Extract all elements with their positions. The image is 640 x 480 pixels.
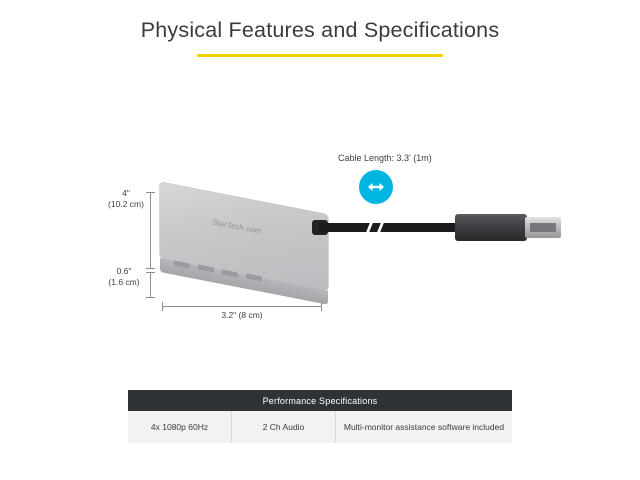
dimension-thickness-primary: 0.6" <box>94 266 154 277</box>
usb-a-connector-tongue <box>530 223 556 232</box>
double-arrow-horizontal-icon <box>359 170 393 204</box>
product-illustration: StarTech.com Cable Length: 3.3' (1m) 4" … <box>0 120 640 350</box>
product-spec-page: Physical Features and Specifications Sta… <box>0 0 640 480</box>
dimension-height-primary: 4" <box>96 188 156 199</box>
dimension-thickness-label: 0.6" (1.6 cm) <box>94 266 154 288</box>
dimension-height-secondary: (10.2 cm) <box>96 199 156 210</box>
specs-cell-software: Multi-monitor assistance software includ… <box>336 411 512 443</box>
specs-cell-video: 4x 1080p 60Hz <box>128 411 232 443</box>
cable <box>318 223 460 232</box>
device-body: StarTech.com <box>160 182 328 282</box>
dimension-width-label: 3.2" (8 cm) <box>212 310 272 321</box>
dimension-width-tick-right <box>321 302 322 311</box>
usb-a-connector-shell <box>455 214 527 241</box>
title-underline <box>197 54 443 57</box>
dimension-height-tick-top <box>146 192 155 193</box>
dimension-height-line <box>150 192 151 269</box>
dimension-thickness-tick-top <box>146 272 155 273</box>
page-title: Physical Features and Specifications <box>0 16 640 44</box>
performance-specifications-table: Performance Specifications 4x 1080p 60Hz… <box>128 390 512 443</box>
dimension-thickness-secondary: (1.6 cm) <box>94 277 154 288</box>
title-block: Physical Features and Specifications <box>0 16 640 57</box>
specs-table-row: 4x 1080p 60Hz 2 Ch Audio Multi-monitor a… <box>128 411 512 443</box>
dimension-thickness-tick-bottom <box>146 297 155 298</box>
cable-length-label: Cable Length: 3.3' (1m) <box>338 153 432 163</box>
dimension-width-tick-left <box>162 302 163 311</box>
dimension-thickness-line <box>150 272 151 298</box>
specs-cell-audio: 2 Ch Audio <box>232 411 336 443</box>
dimension-width-line <box>162 306 322 307</box>
specs-table-header: Performance Specifications <box>128 390 512 411</box>
